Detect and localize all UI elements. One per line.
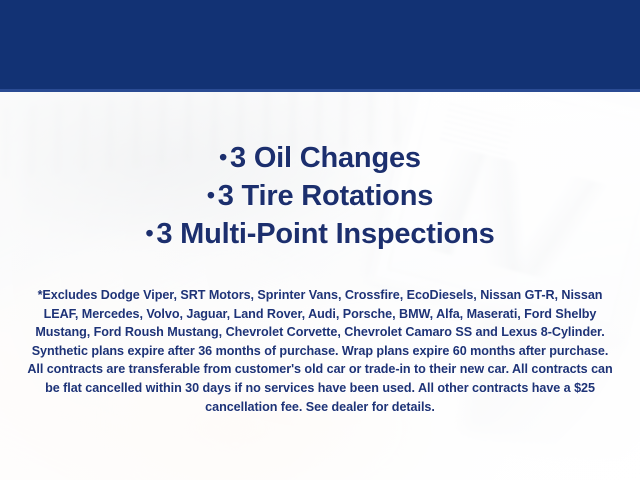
- bullet-icon: •: [207, 182, 215, 208]
- benefit-item-oil-changes: •3 Oil Changes: [0, 141, 640, 175]
- benefits-list: •3 Oil Changes •3 Tire Rotations •3 Mult…: [0, 141, 640, 251]
- bullet-icon: •: [145, 220, 153, 246]
- header-banner-underline: [0, 89, 640, 92]
- benefit-label-oil-changes: 3 Oil Changes: [230, 142, 421, 174]
- bullet-icon: •: [219, 144, 227, 170]
- extracare-package-ad: ExtraCare Package* •3 Oil Changes •3 Tir…: [0, 0, 640, 480]
- benefit-label-multi-point-inspections: 3 Multi-Point Inspections: [156, 218, 494, 250]
- benefit-item-multi-point-inspections: •3 Multi-Point Inspections: [0, 217, 640, 251]
- disclaimer-text: *Excludes Dodge Viper, SRT Motors, Sprin…: [24, 286, 616, 416]
- benefit-item-tire-rotations: •3 Tire Rotations: [0, 179, 640, 213]
- header-banner: [0, 0, 640, 89]
- benefit-label-tire-rotations: 3 Tire Rotations: [218, 180, 433, 212]
